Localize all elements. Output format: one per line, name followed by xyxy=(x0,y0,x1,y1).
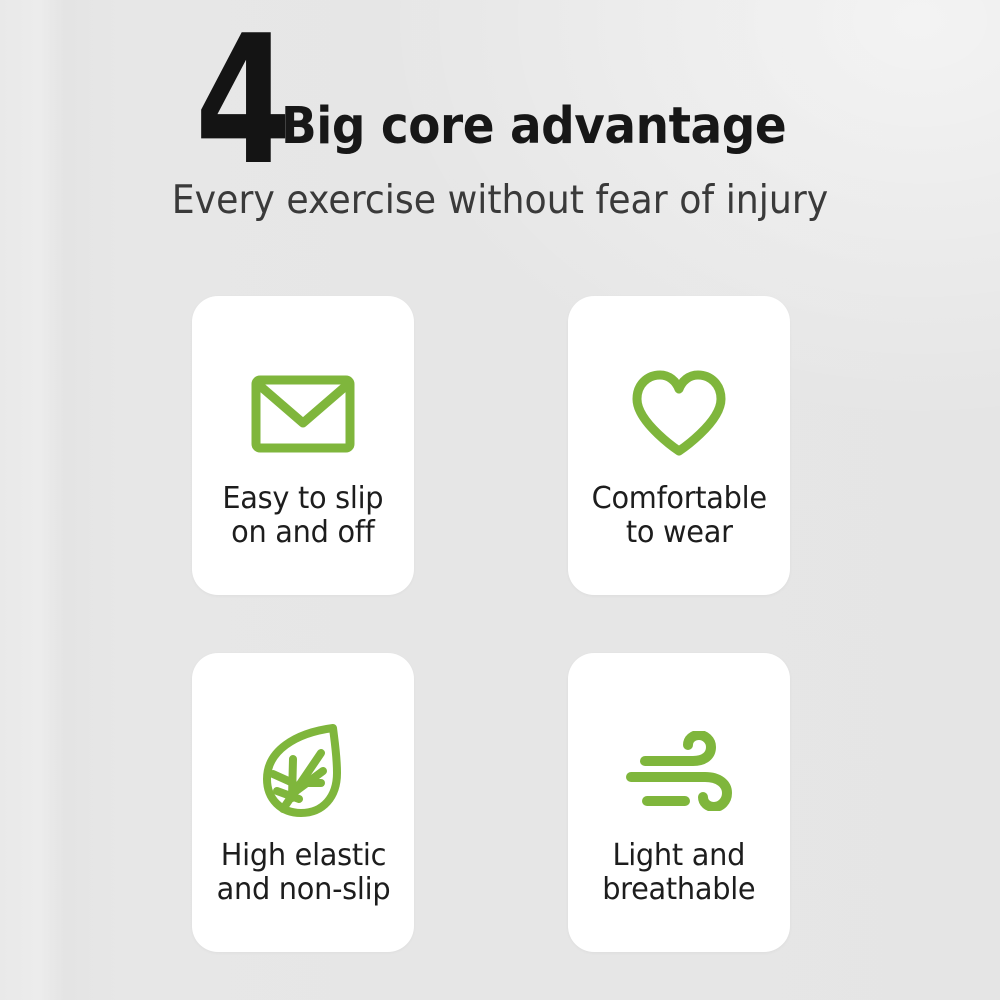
page-title: Big core advantage xyxy=(281,101,786,152)
advantage-card-label: Light and breathable xyxy=(597,839,762,907)
advantage-card-comfortable[interactable]: Comfortable to wear xyxy=(568,296,790,595)
advantage-card-easy-slip[interactable]: Easy to slip on and off xyxy=(192,296,414,595)
advantage-card-light-breathable[interactable]: Light and breathable xyxy=(568,653,790,952)
advantage-count-number: 4 xyxy=(195,26,287,176)
advantage-card-grid: Easy to slip on and off Comfortable to w… xyxy=(192,296,788,952)
advantage-card-label: High elastic and non-slip xyxy=(210,839,395,907)
advantage-card-high-elastic[interactable]: High elastic and non-slip xyxy=(192,653,414,952)
advantage-card-label: Comfortable to wear xyxy=(586,482,773,550)
headline-row: 4 Big core advantage xyxy=(169,26,830,176)
promo-graphic: 4 Big core advantage Every exercise with… xyxy=(0,0,1000,1000)
heart-icon xyxy=(629,354,729,474)
leaf-icon xyxy=(255,711,351,831)
page-subtitle: Every exercise without fear of injury xyxy=(35,178,965,223)
envelope-icon xyxy=(251,354,355,474)
advantage-card-label: Easy to slip on and off xyxy=(217,482,389,550)
header-block: 4 Big core advantage xyxy=(0,26,1000,176)
wind-icon xyxy=(623,711,735,831)
